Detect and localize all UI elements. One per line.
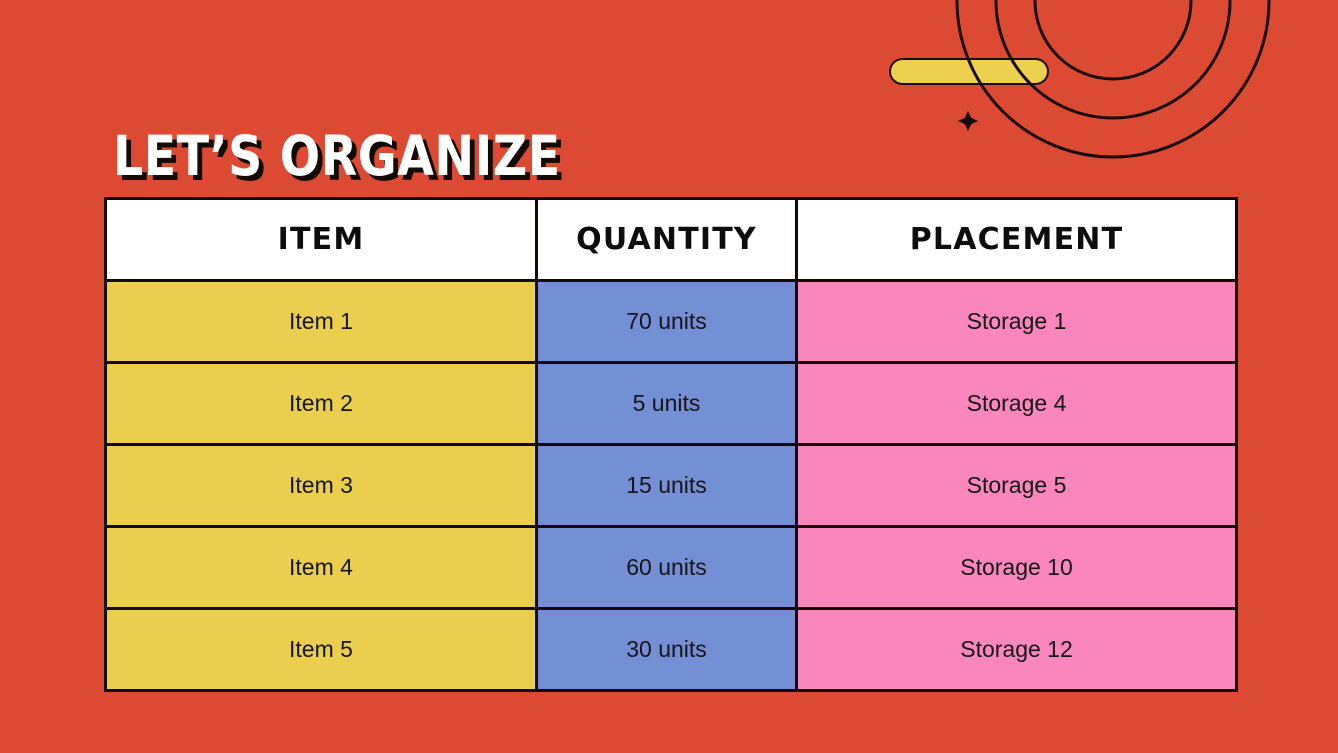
table-body: Item 1 70 units Storage 1 Item 2 5 units… (106, 281, 1237, 691)
sparkle-icon (958, 111, 978, 131)
cell-quantity: 60 units (537, 527, 797, 609)
cell-item: Item 2 (106, 363, 537, 445)
table-row: Item 4 60 units Storage 10 (106, 527, 1237, 609)
table-row: Item 1 70 units Storage 1 (106, 281, 1237, 363)
cell-quantity: 15 units (537, 445, 797, 527)
table-row: Item 3 15 units Storage 5 (106, 445, 1237, 527)
cell-item: Item 5 (106, 609, 537, 691)
cell-item: Item 3 (106, 445, 537, 527)
table-row: Item 2 5 units Storage 4 (106, 363, 1237, 445)
organize-table: ITEM QUANTITY PLACEMENT Item 1 70 units … (104, 197, 1238, 692)
cell-quantity: 30 units (537, 609, 797, 691)
cell-quantity: 5 units (537, 363, 797, 445)
cell-placement: Storage 4 (797, 363, 1237, 445)
cell-placement: Storage 12 (797, 609, 1237, 691)
organize-table-container: ITEM QUANTITY PLACEMENT Item 1 70 units … (104, 197, 1235, 675)
cell-item: Item 4 (106, 527, 537, 609)
table-row: Item 5 30 units Storage 12 (106, 609, 1237, 691)
cell-item: Item 1 (106, 281, 537, 363)
cell-quantity: 70 units (537, 281, 797, 363)
ring-middle (996, 0, 1230, 118)
ring-inner (1035, 0, 1191, 79)
concentric-rings-decoration (0, 0, 1338, 260)
slide-canvas: { "slide": { "title": "LET\u2019S ORGANI… (0, 0, 1338, 753)
cell-placement: Storage 1 (797, 281, 1237, 363)
cell-placement: Storage 10 (797, 527, 1237, 609)
cell-placement: Storage 5 (797, 445, 1237, 527)
